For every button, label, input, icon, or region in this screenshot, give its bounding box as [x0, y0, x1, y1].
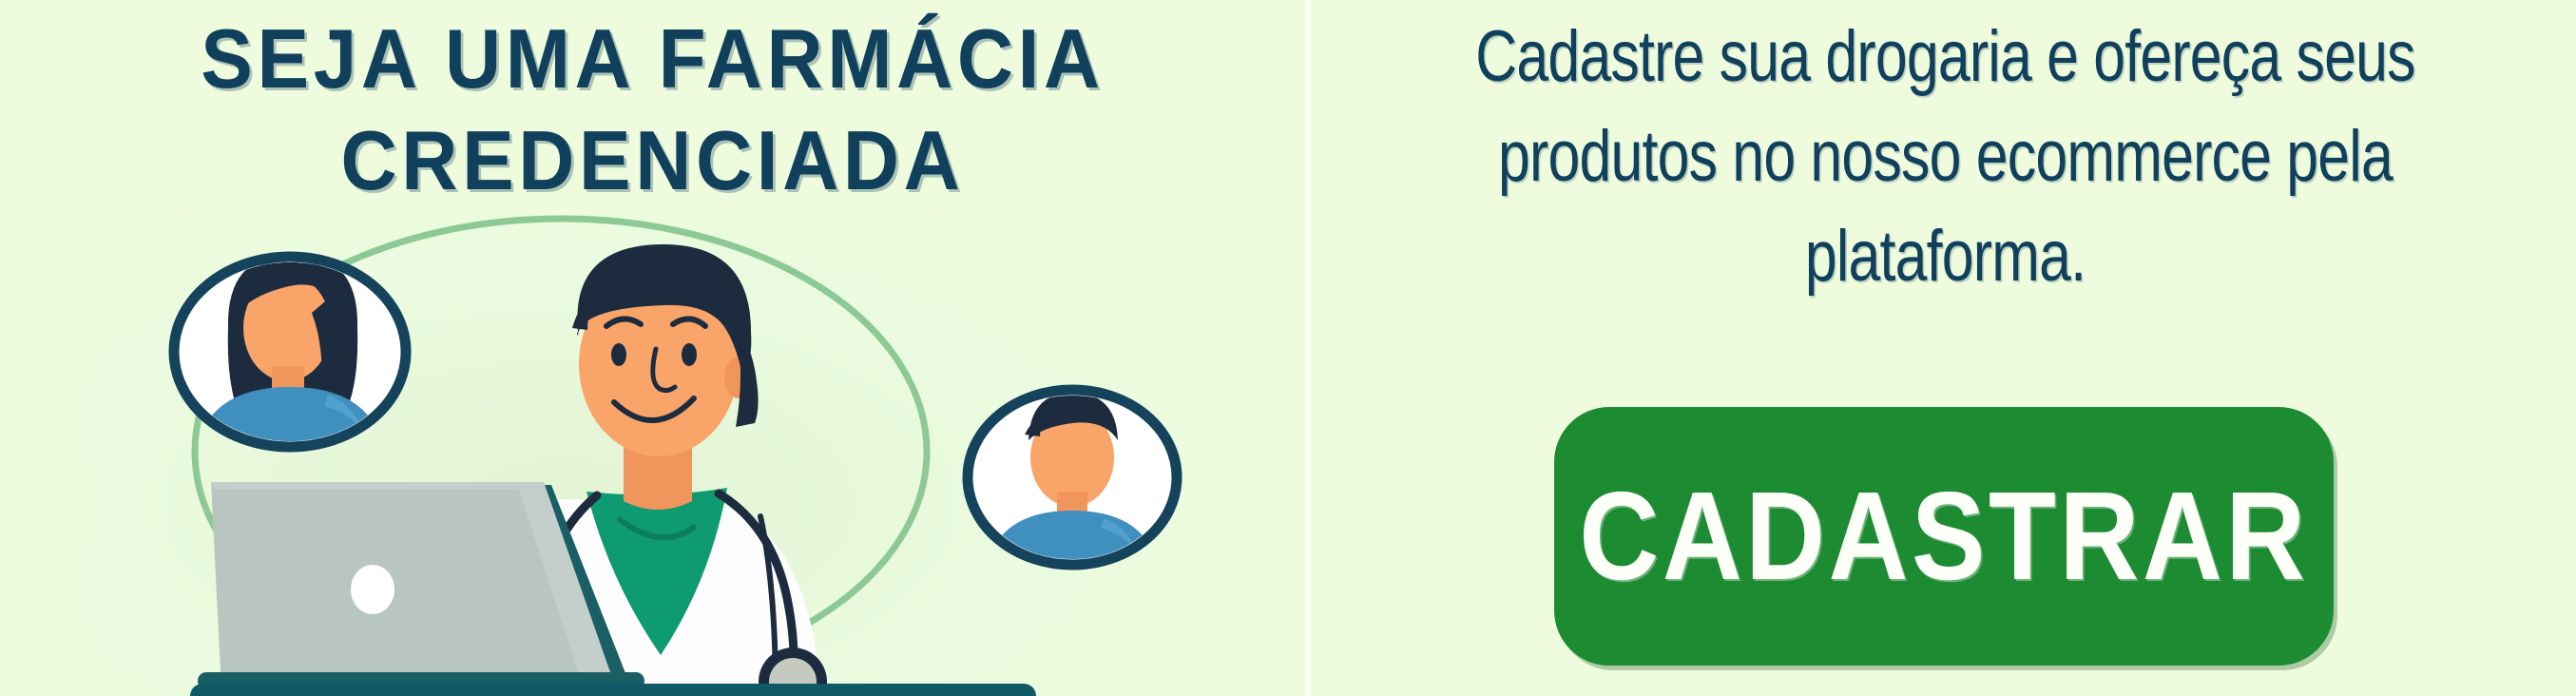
cadastrar-button[interactable]: CADASTRAR — [1554, 407, 2334, 666]
subheadline: Cadastre sua drogaria e ofereça seus pro… — [1461, 8, 2431, 307]
illustration-svg — [86, 214, 1217, 696]
right-panel: Cadastre sua drogaria e ofereça seus pro… — [1311, 0, 2576, 696]
avatar-female-icon — [174, 254, 406, 511]
cadastrar-button-label: CADASTRAR — [1579, 474, 2308, 599]
headline: SEJA UMA FARMÁCIA CREDENCIADA — [46, 8, 1259, 212]
promo-banner: SEJA UMA FARMÁCIA CREDENCIADA — [0, 0, 2576, 696]
desk-bar — [190, 684, 1036, 696]
avatar-male-icon — [968, 390, 1177, 619]
cta-container: CADASTRAR — [1311, 407, 2576, 666]
doctor-illustration — [86, 214, 1217, 696]
left-panel: SEJA UMA FARMÁCIA CREDENCIADA — [0, 0, 1305, 696]
